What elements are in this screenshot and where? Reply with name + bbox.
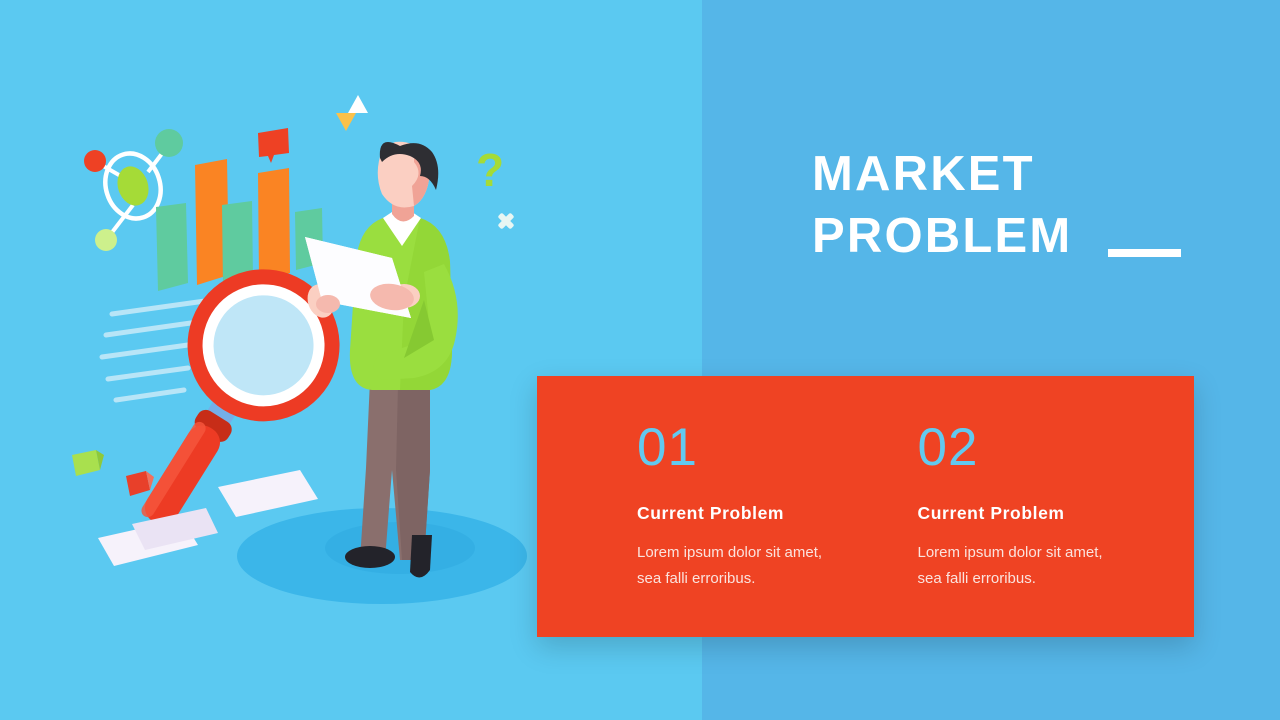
slide-canvas: ?	[0, 0, 1280, 720]
bar-chart-icon	[156, 159, 323, 291]
column-number-02: 02	[918, 421, 1195, 475]
question-mark-icon: ?	[476, 144, 504, 196]
column-number-01: 01	[637, 421, 866, 475]
column-body-02: Lorem ipsum dolor sit amet, sea falli er…	[918, 540, 1128, 592]
triangle-down-icon	[336, 113, 356, 131]
content-column-01: 01 Current Problem Lorem ipsum dolor sit…	[537, 376, 866, 637]
speech-bubble-icon	[258, 128, 289, 163]
content-columns: 01 Current Problem Lorem ipsum dolor sit…	[537, 376, 1194, 637]
svg-text:?: ?	[476, 144, 504, 196]
column-heading-02: Current Problem	[918, 503, 1195, 524]
page-title-line-1: MARKET	[812, 143, 1212, 205]
content-panel: 01 Current Problem Lorem ipsum dolor sit…	[537, 376, 1194, 637]
page-title-line-2: PROBLEM	[812, 205, 1212, 267]
triangle-up-icon	[348, 95, 368, 113]
cross-icon	[498, 213, 515, 230]
title-accent-rule	[1108, 249, 1181, 257]
column-heading-01: Current Problem	[637, 503, 866, 524]
column-body-01: Lorem ipsum dolor sit amet, sea falli er…	[637, 540, 847, 592]
cube-green-icon	[72, 450, 104, 476]
content-column-02: 02 Current Problem Lorem ipsum dolor sit…	[866, 376, 1195, 637]
cube-red-icon	[126, 471, 154, 496]
